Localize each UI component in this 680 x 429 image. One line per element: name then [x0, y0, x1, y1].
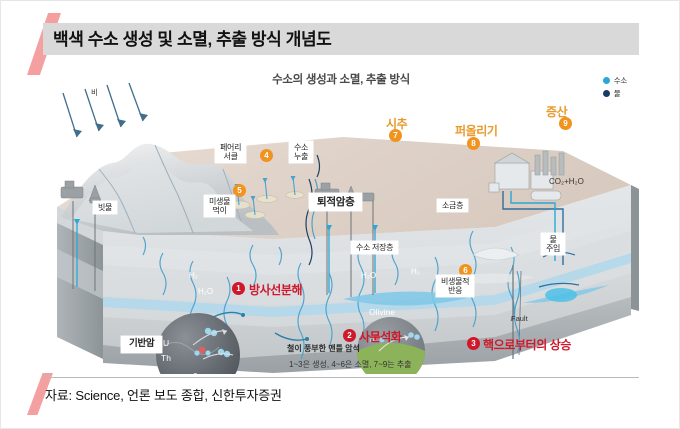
water-injection-label: 물 주입 [541, 233, 565, 255]
source-text: 자료: Science, 언론 보도 종합, 신한투자증권 [45, 385, 282, 404]
diagram-footnote: 1~3은 생성, 4~6은 소멸, 7~9는 추출 [289, 359, 412, 370]
step-number-7: 7 [389, 129, 402, 142]
step-number-9: 9 [559, 117, 572, 130]
iron-mantle-rock-label: 철이 풍부한 맨틀 암석 [287, 343, 360, 354]
fault-label: Fault [511, 314, 528, 323]
page-title: 백색 수소 생성 및 소멸, 추출 방식 개념도 [53, 27, 633, 53]
hydrogen-storage-label: 수소 저장층 [351, 241, 398, 254]
salt-layer-label: 소금층 [437, 199, 468, 212]
step-number-8: 8 [467, 137, 480, 150]
sedimentary-rock-label: 퇴적암층 [309, 193, 362, 211]
step-label-3: 핵으로부터의 상승 [483, 336, 571, 353]
step-label-1: 방사선분해 [249, 281, 302, 298]
hydrogen-leak-label: 수소 누출 [289, 141, 313, 163]
beta-symbol: β [193, 372, 198, 374]
rainwater-label: 빗물 [93, 201, 117, 214]
step-label-2: 사문석화 [359, 328, 402, 345]
fairy-circle-label: 페어리 서클 [215, 141, 246, 163]
slide-page: 백색 수소 생성 및 소멸, 추출 방식 개념도 수소의 생성과 소멸, 추출 … [0, 0, 680, 429]
microbe-food-label: 미생물 먹이 [204, 195, 235, 217]
bedrock-label: 기반암 [121, 336, 162, 353]
step-number-2: 2 [343, 329, 356, 342]
alpha-symbol: α [181, 373, 186, 374]
thorium-symbol: Th [161, 353, 171, 363]
h2-label-mid: H₂ [411, 267, 420, 276]
legend-label-hydrogen: 수소 [614, 75, 627, 86]
legend-item-water: 물 [603, 88, 627, 99]
h2o-label-left: H₂O [198, 287, 213, 296]
step-number-4: 4 [260, 149, 273, 162]
h2o-label-mid: H₂O [361, 271, 376, 280]
legend-label-water: 물 [614, 88, 621, 99]
rain-label: 비 [91, 87, 98, 98]
step-label-8: 퍼올리기 [455, 122, 498, 139]
legend-dot-hydrogen [603, 77, 610, 84]
abiotic-reaction-label: 비생물적 반응 [436, 275, 474, 297]
co2-h2o-label: CO₂+H₂O [549, 177, 584, 186]
uranium-symbol: U [163, 338, 169, 348]
source-divider [43, 377, 639, 378]
legend: 수소 물 [603, 75, 627, 101]
step-number-3: 3 [467, 337, 480, 350]
diagram-canvas: 수소의 생성과 소멸, 추출 방식 [43, 59, 639, 374]
legend-item-hydrogen: 수소 [603, 75, 627, 86]
step-number-1: 1 [232, 282, 245, 295]
olivine-label: Olivine [369, 307, 395, 317]
legend-dot-water [603, 90, 610, 97]
h2-label-left: H₂ [189, 271, 198, 280]
